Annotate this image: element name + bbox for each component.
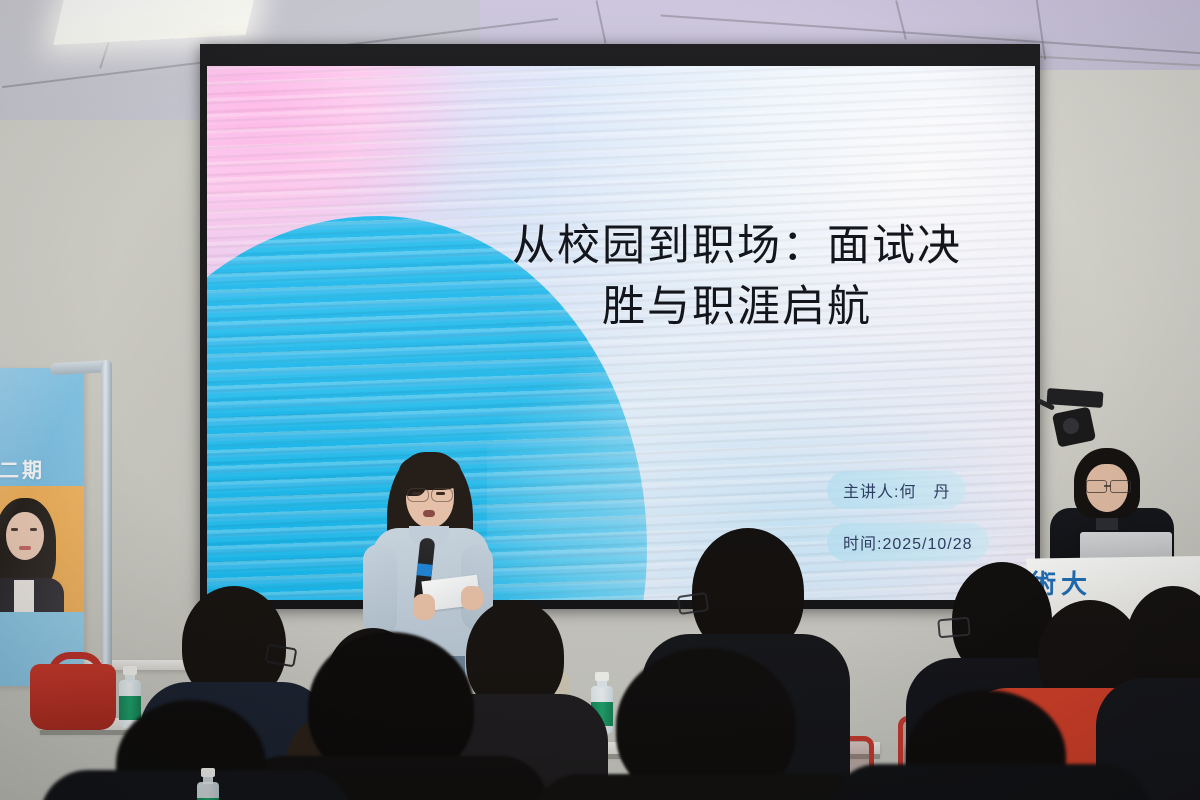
slide-title-line-1: 从校园到职场：面试决: [457, 216, 1017, 277]
presenter-sleeve-left: [363, 544, 397, 636]
wall-device-bracket: [1047, 388, 1104, 408]
rollup-poster-stand: 校园第二期: [0, 360, 112, 700]
wall-speaker-icon: [1043, 388, 1105, 450]
wall-device-lens: [1063, 418, 1079, 434]
audience-shoulders: [830, 764, 1150, 800]
audience-glasses: [937, 617, 971, 639]
poster-support-pole: [101, 360, 112, 690]
slide-date-badge: 时间:2025/10/28: [827, 523, 989, 561]
lecture-hall-photo: 从校园到职场：面试决 胜与职涯启航 主讲人:何 丹 时间:2025/10/28 …: [0, 0, 1200, 800]
slide-badge-group: 主讲人:何 丹 时间:2025/10/28: [827, 471, 1035, 575]
presenter-eye-left: [412, 492, 421, 495]
projection-screen-valance: [200, 44, 1040, 66]
presenter-eye-right: [436, 492, 445, 495]
slide-speaker-badge: 主讲人:何 丹: [827, 471, 966, 509]
staff-glasses-left: [1086, 480, 1107, 493]
microphone-band: [416, 563, 432, 577]
presenter-mouth: [423, 510, 435, 517]
audience-member-foreground: [556, 648, 856, 800]
audience-member-foreground: [70, 700, 320, 800]
bottle-cap: [201, 768, 215, 777]
audience-member-foreground: [856, 690, 1116, 800]
staff-glasses-right: [1110, 480, 1131, 493]
bottle-cap: [123, 666, 137, 675]
bottle-neck: [125, 674, 135, 682]
bottle-neck: [203, 776, 213, 784]
presenter-glasses-right: [431, 488, 453, 502]
presenter-hand-left: [413, 594, 435, 620]
audience-member: [1112, 586, 1200, 800]
water-bottle-icon: [196, 768, 220, 800]
projection-screen: 从校园到职场：面试决 胜与职涯启航 主讲人:何 丹 时间:2025/10/28: [207, 66, 1035, 600]
presenter-glasses-left: [407, 488, 429, 502]
slide-title-block: 从校园到职场：面试决 胜与职涯启航: [457, 216, 1017, 338]
audience-shoulders: [532, 774, 882, 800]
poster-glare: [0, 368, 84, 686]
staff-glasses-bridge: [1104, 485, 1111, 487]
slide-title-line-2: 胜与职涯启航: [457, 277, 1017, 338]
